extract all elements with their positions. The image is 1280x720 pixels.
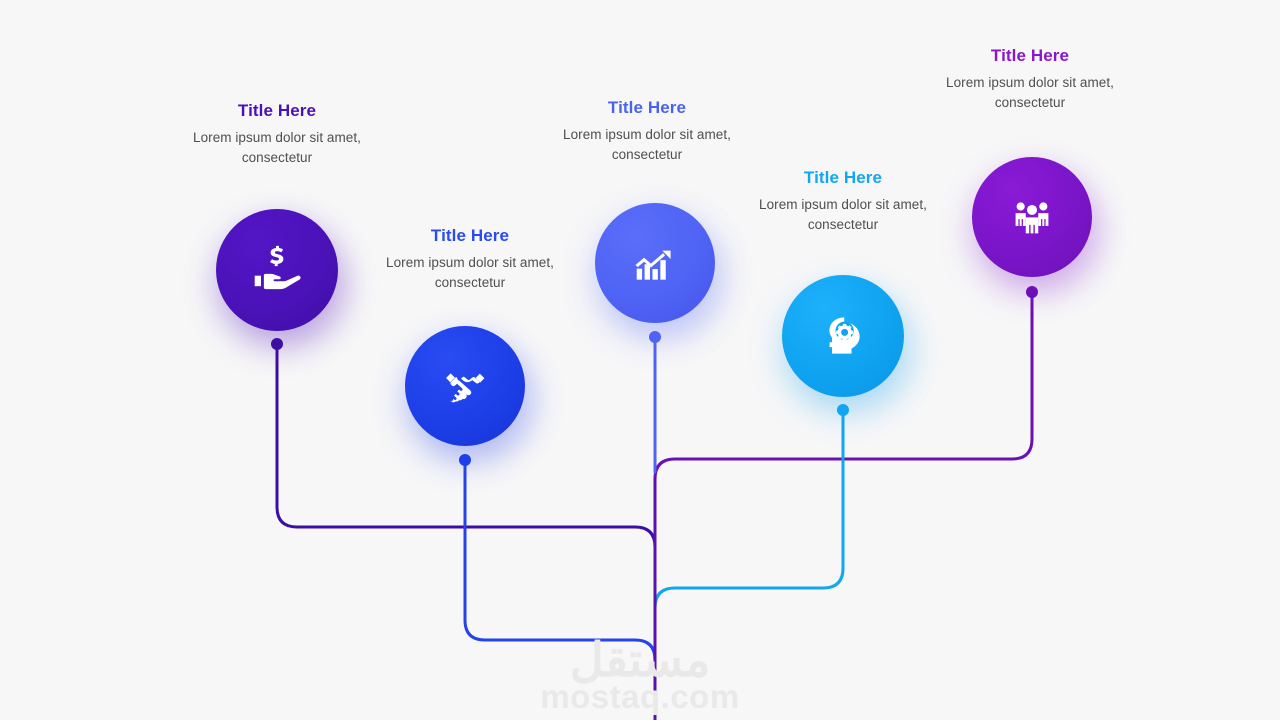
node-2-text: Title Here Lorem ipsum dolor sit amet, c… (370, 226, 570, 292)
node-3-description: Lorem ipsum dolor sit amet, consectetur (547, 125, 747, 163)
node-3-title: Title Here (547, 98, 747, 118)
node-1-dot (271, 338, 283, 350)
node-1-circle[interactable] (216, 209, 338, 331)
node-5-text: Title Here Lorem ipsum dolor sit amet, c… (930, 46, 1130, 112)
node-1-description: Lorem ipsum dolor sit amet, consectetur (177, 128, 377, 166)
node-2-circle[interactable] (405, 326, 525, 446)
watermark-arabic: مستقل (0, 636, 1280, 683)
node-1-title: Title Here (177, 101, 377, 121)
node-3-circle[interactable] (595, 203, 715, 323)
node-5-circle[interactable] (972, 157, 1092, 277)
node-4-title: Title Here (743, 168, 943, 188)
node-4-dot (837, 404, 849, 416)
node-5-description: Lorem ipsum dolor sit amet, consectetur (930, 73, 1130, 111)
hand-holding-dollar-icon (249, 242, 305, 298)
watermark-latin: mostaq.com (0, 680, 1280, 713)
node-3-text: Title Here Lorem ipsum dolor sit amet, c… (547, 98, 747, 164)
head-gear-icon (817, 310, 869, 362)
node-2-dot (459, 454, 471, 466)
connector-node-4 (655, 416, 843, 720)
node-3-dot (649, 331, 661, 343)
node-1-text: Title Here Lorem ipsum dolor sit amet, c… (177, 101, 377, 167)
connector-node-2 (465, 466, 655, 720)
node-4-description: Lorem ipsum dolor sit amet, consectetur (743, 195, 943, 233)
node-4-text: Title Here Lorem ipsum dolor sit amet, c… (743, 168, 943, 234)
node-2-title: Title Here (370, 226, 570, 246)
node-5-dot (1026, 286, 1038, 298)
infographic-canvas: مستقل mostaq.com Title Here Lorem ipsum … (0, 0, 1280, 720)
handshake-icon (438, 359, 492, 413)
node-2-description: Lorem ipsum dolor sit amet, consectetur (370, 253, 570, 291)
node-5-title: Title Here (930, 46, 1130, 66)
people-group-icon (1007, 192, 1057, 242)
growth-chart-icon (629, 237, 681, 289)
node-4-circle[interactable] (782, 275, 904, 397)
